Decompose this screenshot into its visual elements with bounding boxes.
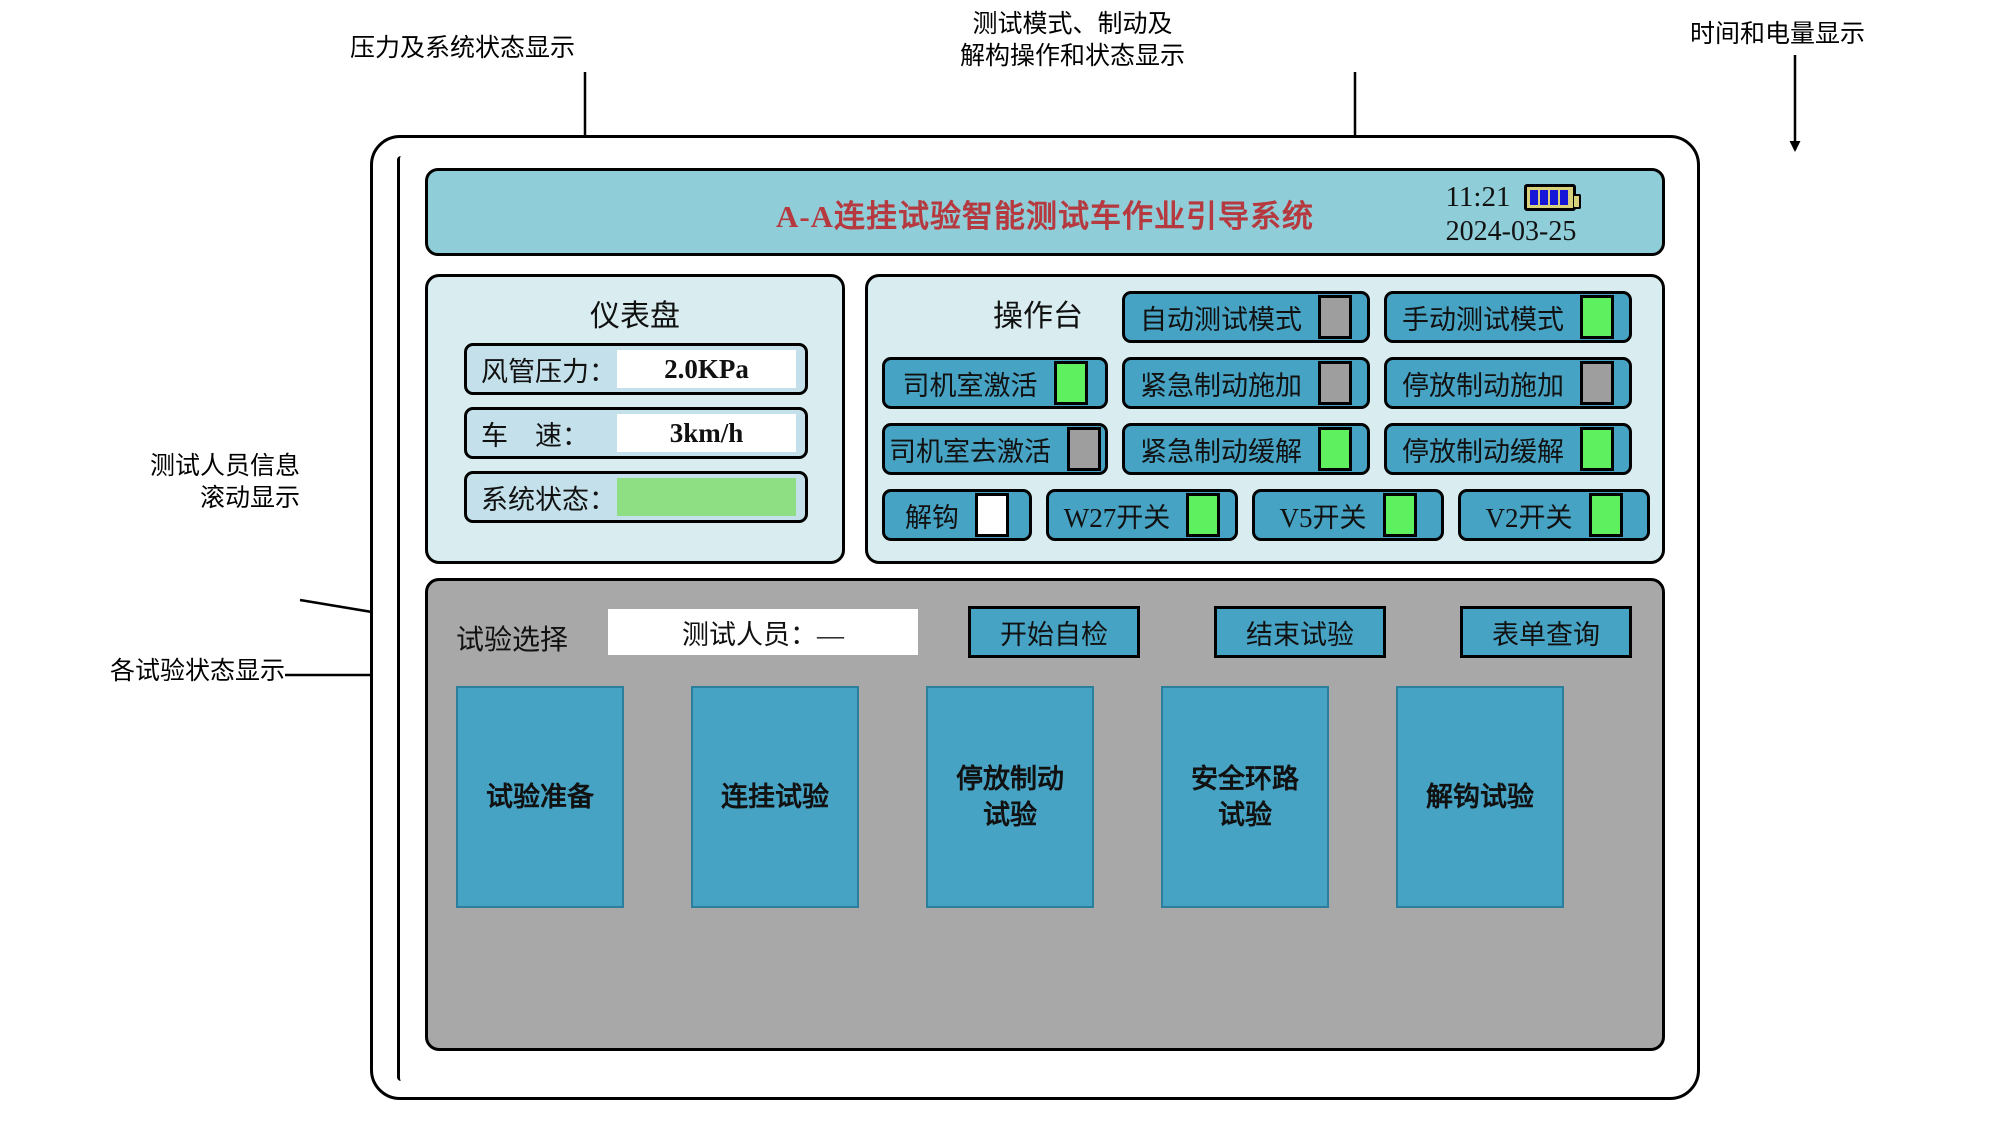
gauge-row-system-status: 系统状态：	[464, 471, 808, 523]
gauge-label-system-status: 系统状态：	[467, 478, 617, 517]
led-cab-deactivate	[1067, 427, 1101, 471]
led-parking-brake-apply	[1580, 361, 1614, 405]
title-bar: A-A连挂试验智能测试车作业引导系统 11:21 2024-03-25	[425, 168, 1665, 256]
label-uncouple: 解钩	[905, 496, 959, 535]
test-card-safety-loop[interactable]: 安全环路 试验	[1161, 686, 1329, 908]
console-panel: 操作台 自动测试模式 手动测试模式 司机室激活 紧急制动施加 停放制动施加 司机…	[865, 274, 1665, 564]
device-frame: A-A连挂试验智能测试车作业引导系统 11:21 2024-03-25 仪表盘 …	[370, 135, 1700, 1100]
label-switch-v2: V2开关	[1486, 496, 1573, 535]
battery-icon	[1524, 184, 1576, 211]
gauge-value-pipe-pressure: 2.0KPa	[617, 350, 796, 388]
led-switch-v5	[1383, 493, 1417, 537]
annotation-test-mode: 测试模式、制动及 解构操作和状态显示	[960, 8, 1185, 72]
led-cab-activate	[1054, 361, 1088, 405]
button-start-self-check[interactable]: 开始自检	[968, 606, 1140, 658]
label-switch-w27: W27开关	[1064, 496, 1170, 535]
button-auto-test-mode[interactable]: 自动测试模式	[1122, 291, 1370, 343]
label-emergency-brake-apply: 紧急制动施加	[1140, 364, 1302, 403]
button-cab-deactivate[interactable]: 司机室去激活	[882, 423, 1108, 475]
annotation-time-battery: 时间和电量显示	[1690, 18, 1865, 50]
led-emergency-brake-release	[1318, 427, 1352, 471]
gauge-panel: 仪表盘 风管压力： 2.0KPa 车 速： 3km/h 系统状态：	[425, 274, 845, 564]
button-switch-v2[interactable]: V2开关	[1458, 489, 1650, 541]
button-manual-test-mode[interactable]: 手动测试模式	[1384, 291, 1632, 343]
test-card-preparation[interactable]: 试验准备	[456, 686, 624, 908]
test-card-coupling[interactable]: 连挂试验	[691, 686, 859, 908]
gauge-label-pipe-pressure: 风管压力：	[467, 350, 617, 389]
label-cab-activate: 司机室激活	[903, 364, 1038, 403]
gauge-label-speed: 车 速：	[467, 414, 617, 453]
label-auto-test-mode: 自动测试模式	[1140, 298, 1302, 337]
label-cab-deactivate: 司机室去激活	[889, 430, 1051, 469]
test-selection-panel: 试验选择 测试人员：— 开始自检 结束试验 表单查询 试验准备 连挂试验 停放制…	[425, 578, 1665, 1051]
gauge-panel-title: 仪表盘	[428, 291, 842, 335]
clock-block: 11:21 2024-03-25	[1396, 181, 1626, 248]
button-form-query[interactable]: 表单查询	[1460, 606, 1632, 658]
test-selection-label: 试验选择	[456, 618, 568, 658]
annotation-test-status: 各试验状态显示	[110, 655, 280, 687]
button-parking-brake-release[interactable]: 停放制动缓解	[1384, 423, 1632, 475]
led-switch-v2	[1589, 493, 1623, 537]
button-parking-brake-apply[interactable]: 停放制动施加	[1384, 357, 1632, 409]
button-uncouple[interactable]: 解钩	[882, 489, 1032, 541]
test-card-uncoupling[interactable]: 解钩试验	[1396, 686, 1564, 908]
gauge-row-speed: 车 速： 3km/h	[464, 407, 808, 459]
label-emergency-brake-release: 紧急制动缓解	[1140, 430, 1302, 469]
clock-time: 11:21	[1446, 181, 1511, 214]
button-cab-activate[interactable]: 司机室激活	[882, 357, 1108, 409]
led-auto-test-mode	[1318, 295, 1352, 339]
button-emergency-brake-apply[interactable]: 紧急制动施加	[1122, 357, 1370, 409]
label-switch-v5: V5开关	[1280, 496, 1367, 535]
gauge-indicator-system-status	[617, 478, 796, 516]
clock-date: 2024-03-25	[1396, 216, 1626, 248]
led-switch-w27	[1186, 493, 1220, 537]
label-parking-brake-release: 停放制动缓解	[1402, 430, 1564, 469]
led-parking-brake-release	[1580, 427, 1614, 471]
label-parking-brake-apply: 停放制动施加	[1402, 364, 1564, 403]
button-end-test[interactable]: 结束试验	[1214, 606, 1386, 658]
button-emergency-brake-release[interactable]: 紧急制动缓解	[1122, 423, 1370, 475]
annotation-operator-scroll: 测试人员信息 滚动显示	[130, 450, 300, 514]
test-card-parking-brake[interactable]: 停放制动 试验	[926, 686, 1094, 908]
led-uncouple	[975, 493, 1009, 537]
gauge-value-speed: 3km/h	[617, 414, 796, 452]
annotation-pressure-status: 压力及系统状态显示	[350, 32, 575, 64]
gauge-row-pipe-pressure: 风管压力： 2.0KPa	[464, 343, 808, 395]
label-manual-test-mode: 手动测试模式	[1402, 298, 1564, 337]
button-switch-w27[interactable]: W27开关	[1046, 489, 1238, 541]
operator-info-field: 测试人员：—	[608, 609, 918, 655]
led-emergency-brake-apply	[1318, 361, 1352, 405]
led-manual-test-mode	[1580, 295, 1614, 339]
button-switch-v5[interactable]: V5开关	[1252, 489, 1444, 541]
